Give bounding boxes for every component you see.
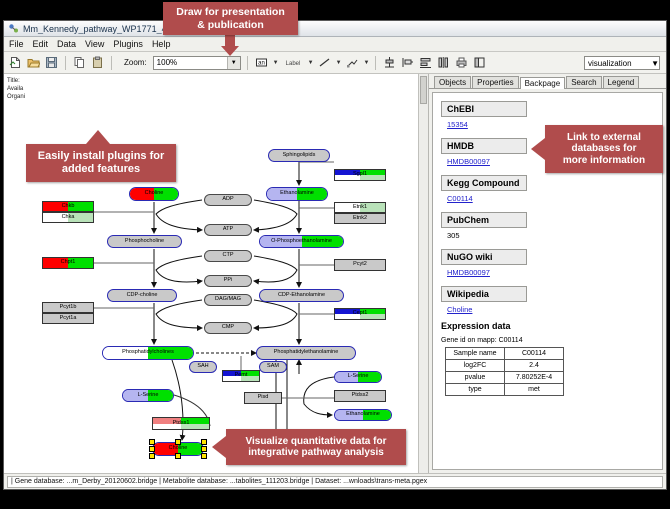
pathway-node-label: PPi <box>224 278 233 284</box>
selection-handle[interactable] <box>149 453 155 459</box>
expression-value: 7.80252E-4 <box>505 372 564 384</box>
pathway-node-cept1[interactable]: Cept1 <box>334 308 386 320</box>
pathway-node-o-phosphoethanolamine[interactable]: O-Phosphoethanolamine <box>259 235 344 248</box>
pathway-node-etnk2[interactable]: Etnk2 <box>334 213 386 224</box>
pathway-node-pcyt1a[interactable]: Pcyt1a <box>42 313 94 324</box>
pathway-node-sphingolipids[interactable]: Sphingolipids <box>268 149 330 162</box>
pathway-node-dagmag[interactable]: DAG/MAG <box>204 294 252 306</box>
node-fill-right <box>68 202 93 211</box>
node-fill-left <box>335 203 360 212</box>
status-bar: | Gene database: ...m_Derby_20120602.bri… <box>4 473 666 489</box>
menu-help[interactable]: Help <box>152 39 171 49</box>
pathway-node-pemt[interactable]: Pemt <box>222 370 260 382</box>
visualization-combo[interactable]: visualization ▼ <box>584 56 660 70</box>
node-fill-right-bottom <box>181 424 209 430</box>
visualization-value: visualization <box>588 59 632 68</box>
pathway-node-ethanolamine-top[interactable]: Ethanolamine <box>266 187 328 201</box>
pathway-node-ethanolamine-right[interactable]: Ethanolamine <box>334 409 392 421</box>
node-fill-left-bottom <box>335 314 360 319</box>
menu-edit[interactable]: Edit <box>33 39 49 49</box>
db-header-kegg-compound: Kegg Compound <box>441 175 527 191</box>
callout-draw: Draw for presentation& publication <box>163 2 298 35</box>
title-bar: Mm_Kennedy_pathway_WP1771_45176.gpml <box>4 21 666 37</box>
callout-links-arrow <box>531 138 545 160</box>
selection-handle[interactable] <box>201 439 207 445</box>
copy-icon[interactable] <box>72 55 87 70</box>
line-icon[interactable] <box>317 55 332 70</box>
menu-bar: File Edit Data View Plugins Help <box>4 37 666 52</box>
node-fill-left <box>43 213 68 222</box>
menu-data[interactable]: Data <box>57 39 76 49</box>
pathway-node-label: CDP-Ethanolamine <box>278 293 325 299</box>
node-fill-right-bottom <box>360 314 385 319</box>
node-fill-left <box>43 202 68 211</box>
db-header-chebi: ChEBI <box>441 101 527 117</box>
pathway-node-label: ATP <box>223 227 233 233</box>
node-fill-left <box>130 188 154 200</box>
pathway-node-pisd[interactable]: Pisd <box>244 392 282 404</box>
pathway-node-label: SAH <box>197 364 208 370</box>
node-fill-left <box>335 410 363 420</box>
pathway-node-l-serine-right[interactable]: L-Serine <box>334 371 382 383</box>
pathway-node-ptdss1[interactable]: Ptdss1 <box>152 417 210 430</box>
pathway-node-label: SAM <box>267 364 279 370</box>
pathway-node-adp[interactable]: ADP <box>204 194 252 206</box>
db-header-pubchem: PubChem <box>441 212 527 228</box>
db-value-pubchem: 305 <box>447 231 654 240</box>
line-dropdown-arrow[interactable]: ▼ <box>336 60 342 66</box>
zoom-label: Zoom: <box>124 58 147 67</box>
datanode-dropdown-arrow[interactable]: ▼ <box>273 60 279 66</box>
db-header-nugo-wiki: NuGO wiki <box>441 249 527 265</box>
node-fill-left <box>103 347 148 359</box>
pathway-node-atp[interactable]: ATP <box>204 224 252 236</box>
tab-search[interactable]: Search <box>566 76 601 88</box>
expression-table: Sample nameC00114log2FC2.4pvalue7.80252E… <box>445 347 564 396</box>
pathway-node-pcyt2[interactable]: Pcyt2 <box>334 259 386 271</box>
align-stack-icon[interactable] <box>418 55 433 70</box>
expression-row: Sample nameC00114 <box>446 348 564 360</box>
selection-handle[interactable] <box>175 453 181 459</box>
pathway-node-choline-top[interactable]: Choline <box>129 187 179 201</box>
visualization-chevron-down-icon[interactable]: ▼ <box>651 59 659 68</box>
align-left-icon[interactable] <box>400 55 415 70</box>
callout-draw-arrow <box>221 46 239 56</box>
pathway-node-label: Phosphatidylethanolamine <box>274 350 339 356</box>
new-file-icon[interactable] <box>8 55 23 70</box>
node-fill-left <box>43 258 68 268</box>
pathway-node-label: Phosphocholine <box>125 239 164 245</box>
callout-plugins: Easily install plugins foradded features <box>26 144 176 182</box>
pathway-node-label: ADP <box>222 197 233 203</box>
toolbar-separator-1 <box>65 56 66 70</box>
node-fill-right <box>154 188 178 200</box>
zoom-combo[interactable]: 100% ▼ <box>153 56 241 70</box>
pathway-node-label: Etnk2 <box>353 216 367 222</box>
pathway-node-label: CMP <box>222 325 234 331</box>
pathway-node-pcyt1b[interactable]: Pcyt1b <box>42 302 94 313</box>
expression-row: typemet <box>446 384 564 396</box>
expression-row: pvalue7.80252E-4 <box>446 372 564 384</box>
pathway-node-label: Pisd <box>258 395 269 401</box>
pathway-node-sgpl1[interactable]: Sgpl1 <box>334 169 386 181</box>
node-fill-right-bottom <box>241 376 259 381</box>
canvas-scrollbar[interactable] <box>418 74 428 473</box>
selection-handle[interactable] <box>149 439 155 445</box>
pathway-node-ctp[interactable]: CTP <box>204 250 252 262</box>
pathway-node-sah[interactable]: SAH <box>189 361 217 373</box>
node-fill-right <box>302 236 344 247</box>
label-icon[interactable]: Label <box>282 55 304 70</box>
canvas-scrollbar-thumb[interactable] <box>420 76 427 104</box>
expression-value: C00114 <box>505 348 564 360</box>
pathway-node-chka[interactable]: Chka <box>42 212 94 223</box>
tab-objects[interactable]: Objects <box>434 76 471 88</box>
pathway-node-label: Ptdss2 <box>352 393 369 399</box>
db-value-nugo-wiki[interactable]: HMDB00097 <box>447 268 654 277</box>
pathway-node-label: Sphingolipids <box>283 153 316 159</box>
expression-value: met <box>505 384 564 396</box>
pathway-node-cdp-choline[interactable]: CDP-choline <box>107 289 177 302</box>
menu-file[interactable]: File <box>9 39 24 49</box>
status-bar-text: | Gene database: ...m_Derby_20120602.bri… <box>7 476 663 488</box>
callout-plugins-arrow <box>86 130 110 144</box>
node-fill-right <box>358 372 381 382</box>
pathway-node-label: CTP <box>223 253 234 259</box>
pathvisio-window: Mm_Kennedy_pathway_WP1771_45176.gpml Fil… <box>3 20 667 490</box>
node-fill-left-bottom <box>335 175 360 180</box>
selection-handle[interactable] <box>149 446 155 452</box>
menu-view[interactable]: View <box>85 39 104 49</box>
pathway-node-ptdss2[interactable]: Ptdss2 <box>334 390 386 402</box>
pathway-node-phosphatidylethanolamine[interactable]: Phosphatidylethanolamine <box>256 346 356 360</box>
distribute-icon[interactable] <box>436 55 451 70</box>
pathway-node-chkb[interactable]: Chkb <box>42 201 94 212</box>
node-fill-right <box>363 410 391 420</box>
expression-key: log2FC <box>446 360 505 372</box>
callout-visualize: Visualize quantitative data forintegrati… <box>226 429 406 465</box>
db-header-hmdb: HMDB <box>441 138 527 154</box>
node-fill-right <box>148 347 193 359</box>
selection-handle[interactable] <box>175 439 181 445</box>
pathway-node-phosphocholine[interactable]: Phosphocholine <box>107 235 182 248</box>
toolbar: Zoom: 100% ▼ an ▼ Label ▼ ▼ ▼ <box>4 52 666 74</box>
toolbar-separator-4 <box>375 56 376 70</box>
node-fill-left <box>123 390 148 401</box>
expression-value: 2.4 <box>505 360 564 372</box>
selection-handle[interactable] <box>201 446 207 452</box>
screenshot-root: Mm_Kennedy_pathway_WP1771_45176.gpml Fil… <box>0 0 670 509</box>
pathvisio-icon <box>8 23 19 34</box>
pathway-node-label: CDP-choline <box>127 293 158 299</box>
align-icon[interactable] <box>382 55 397 70</box>
expression-row: log2FC2.4 <box>446 360 564 372</box>
pathway-node-cmp[interactable]: CMP <box>204 322 252 334</box>
tab-properties[interactable]: Properties <box>472 76 518 88</box>
zoom-value: 100% <box>157 58 177 67</box>
node-fill-left <box>335 372 358 382</box>
pathway-node-phosphatidylcholines[interactable]: Phosphatidylcholines <box>102 346 194 360</box>
menu-plugins[interactable]: Plugins <box>113 39 143 49</box>
node-fill-right <box>148 390 173 401</box>
svg-text:an: an <box>258 61 265 67</box>
expression-key: Sample name <box>446 348 505 360</box>
pathway-node-cdp-ethanolamine[interactable]: CDP-Ethanolamine <box>259 289 344 302</box>
node-fill-right <box>68 258 93 268</box>
print-icon[interactable] <box>454 55 469 70</box>
toolbar-separator-3 <box>247 56 248 70</box>
pathway-node-chpt1[interactable]: Chpt1 <box>42 257 94 269</box>
pathway-node-etnk1[interactable]: Etnk1 <box>334 202 386 213</box>
pathway-canvas[interactable]: Title: Availa Organi <box>4 74 429 473</box>
pathway-node-label: Pcyt1b <box>60 305 77 311</box>
node-fill-right <box>68 213 93 222</box>
node-fill-left-bottom <box>153 424 181 430</box>
svg-text:Label: Label <box>285 61 300 67</box>
node-fill-right <box>297 188 327 200</box>
save-icon[interactable] <box>44 55 59 70</box>
node-fill-left-bottom <box>223 376 241 381</box>
callout-visualize-arrow <box>212 436 226 458</box>
node-fill-left <box>260 236 302 247</box>
open-folder-icon[interactable] <box>26 55 41 70</box>
pathway-node-sam[interactable]: SAM <box>259 361 287 373</box>
tab-legend[interactable]: Legend <box>603 76 640 88</box>
gene-id-line: Gene id on mapp: C00114 <box>441 337 654 344</box>
connector-dropdown-arrow[interactable]: ▼ <box>364 60 370 66</box>
pathway-node-label: Pcyt2 <box>353 262 367 268</box>
node-fill-right-bottom <box>360 175 385 180</box>
pathway-node-label: DAG/MAG <box>215 297 241 303</box>
tab-backpage[interactable]: Backpage <box>520 77 566 89</box>
datanode-icon[interactable]: an <box>254 55 269 70</box>
paste-icon[interactable] <box>90 55 105 70</box>
side-panel-tabs: ObjectsPropertiesBackpageSearchLegend <box>429 74 666 89</box>
db-header-wikipedia: Wikipedia <box>441 286 527 302</box>
pathway-node-ppi[interactable]: PPi <box>204 275 252 287</box>
selection-handle[interactable] <box>201 453 207 459</box>
node-fill-left <box>267 188 297 200</box>
label-dropdown-arrow[interactable]: ▼ <box>308 60 314 66</box>
pathway-node-label: Pcyt1a <box>60 316 77 322</box>
chevron-down-icon[interactable]: ▼ <box>227 57 240 69</box>
db-value-kegg-compound[interactable]: C00114 <box>447 194 654 203</box>
node-fill-right <box>360 203 385 212</box>
expression-data-title: Expression data <box>441 321 654 331</box>
expression-key: type <box>446 384 505 396</box>
connector-icon[interactable] <box>345 55 360 70</box>
callout-links: Link to externaldatabases formore inform… <box>545 125 663 173</box>
db-value-wikipedia[interactable]: Choline <box>447 305 654 314</box>
node-fill-right <box>178 443 203 455</box>
pathway-node-l-serine-left[interactable]: L-Serine <box>122 389 174 402</box>
expression-key: pvalue <box>446 372 505 384</box>
properties-icon[interactable] <box>472 55 487 70</box>
toolbar-separator-2 <box>111 56 112 70</box>
